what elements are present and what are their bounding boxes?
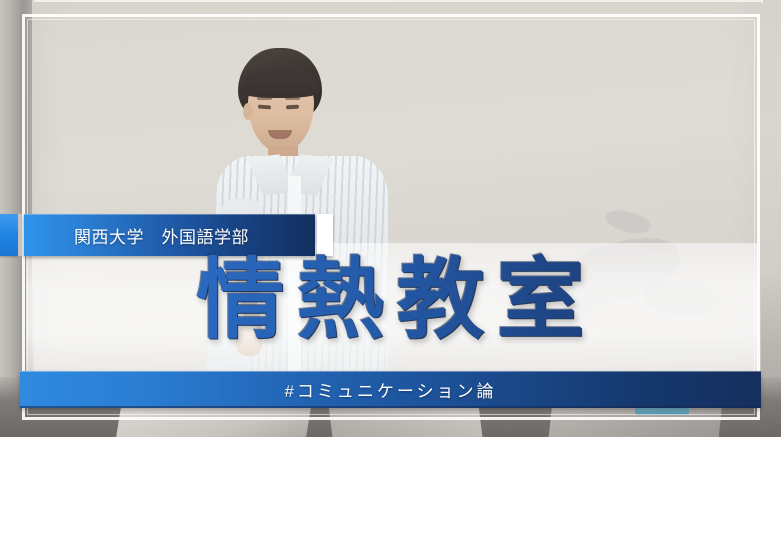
letterbox-area: [0, 437, 781, 549]
top-banner-accent-tab: [0, 214, 18, 256]
presenter-eye-left: [258, 105, 271, 110]
video-title-card: 関西大学 外国語学部 情熱教室 #コミュニケーション論: [0, 0, 781, 549]
presenter-eyebrow-left: [257, 97, 272, 100]
presenter-eyebrow-right: [285, 97, 300, 100]
page-title: 情熱教室: [0, 252, 781, 347]
presenter-eye-right: [286, 105, 299, 110]
board-smudge-4: [603, 206, 653, 238]
presenter-ear: [243, 103, 253, 120]
top-banner-label: 関西大学 外国語学部: [24, 223, 249, 248]
video-frame: 関西大学 外国語学部 情熱教室 #コミュニケーション論: [0, 0, 781, 437]
bottom-banner-hashtag-label: #コミュニケーション論: [284, 377, 496, 402]
bottom-banner: #コミュニケーション論: [20, 371, 761, 408]
